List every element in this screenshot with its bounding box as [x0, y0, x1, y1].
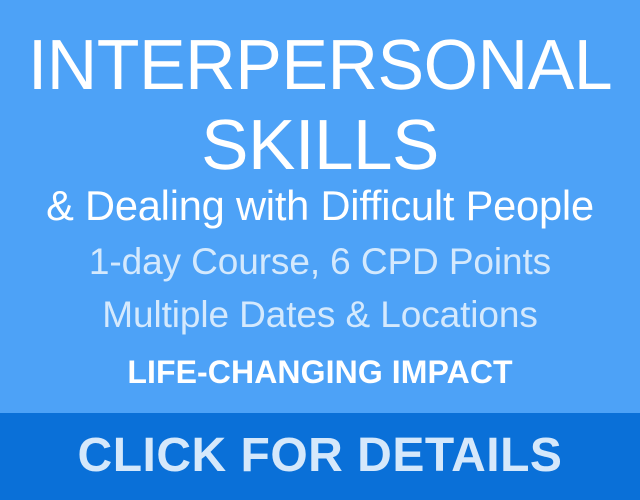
banner-headline: INTERPERSONAL SKILLS: [0, 26, 640, 186]
headline-line-1: INTERPERSONAL: [5, 26, 635, 106]
headline-line-2: SKILLS: [0, 106, 640, 186]
course-advertisement-banner[interactable]: INTERPERSONAL SKILLS & Dealing with Diff…: [0, 0, 640, 500]
course-detail-duration: 1-day Course, 6 CPD Points: [0, 241, 640, 283]
banner-subheadline: & Dealing with Difficult People: [3, 183, 637, 229]
cta-button-label: CLICK FOR DETAILS: [78, 430, 563, 484]
cta-button[interactable]: CLICK FOR DETAILS: [0, 413, 640, 500]
impact-statement: LIFE-CHANGING IMPACT: [0, 353, 640, 391]
course-detail-dates-locations: Multiple Dates & Locations: [0, 294, 640, 336]
banner-content-area: INTERPERSONAL SKILLS & Dealing with Diff…: [0, 0, 640, 413]
